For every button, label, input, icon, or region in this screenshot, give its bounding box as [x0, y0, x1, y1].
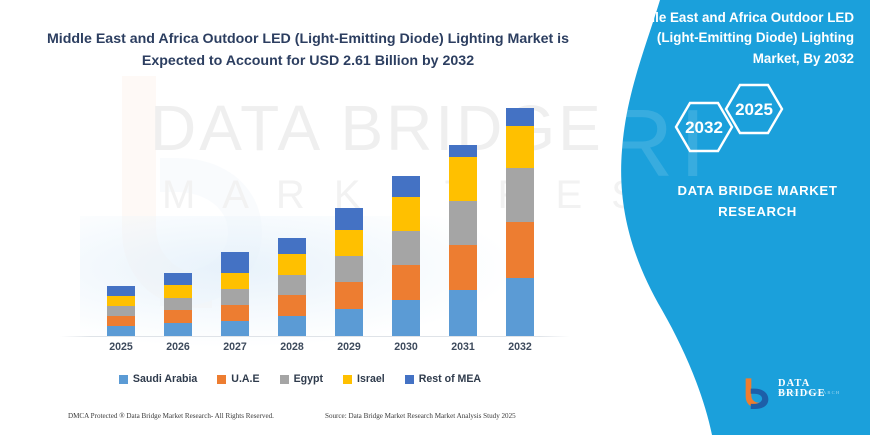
x-axis-label-2026: 2026 [150, 341, 206, 353]
legend-label-u-a-e: U.A.E [231, 373, 259, 385]
bar-segment-saudi-arabia[interactable] [506, 278, 534, 336]
x-axis-label-2032: 2032 [492, 341, 548, 353]
bar-segment-u-a-e[interactable] [392, 265, 420, 300]
bar-segment-israel[interactable] [392, 197, 420, 231]
brand-logo-subtitle: MARKET RESEARCH [778, 391, 840, 396]
hexagon-2025-label: 2025 [735, 100, 773, 119]
hexagon-2032-label: 2032 [685, 118, 723, 137]
footer-copyright: DMCA Protected ® Data Bridge Market Rese… [68, 412, 274, 420]
bar-segment-u-a-e[interactable] [278, 295, 306, 316]
bar-segment-saudi-arabia[interactable] [392, 300, 420, 336]
bar-2032[interactable] [506, 108, 534, 336]
legend-swatch-u-a-e [217, 375, 226, 384]
bar-segment-egypt[interactable] [335, 256, 363, 282]
bar-segment-egypt[interactable] [278, 275, 306, 295]
bar-segment-rest-of-mea[interactable] [506, 108, 534, 126]
bar-segment-egypt[interactable] [221, 289, 249, 305]
legend-swatch-saudi-arabia [119, 375, 128, 384]
bar-segment-egypt[interactable] [449, 201, 477, 245]
bar-segment-rest-of-mea[interactable] [392, 176, 420, 197]
chart-plot-area [72, 92, 552, 336]
bar-segment-saudi-arabia[interactable] [335, 309, 363, 336]
bar-segment-u-a-e[interactable] [107, 316, 135, 326]
bar-2031[interactable] [449, 145, 477, 336]
bar-segment-u-a-e[interactable] [335, 282, 363, 309]
legend-item-israel[interactable]: Israel [343, 373, 385, 385]
legend-item-egypt[interactable]: Egypt [280, 373, 323, 385]
bar-segment-u-a-e[interactable] [449, 245, 477, 290]
bar-segment-egypt[interactable] [506, 168, 534, 222]
x-axis-label-2025: 2025 [93, 341, 149, 353]
bar-segment-rest-of-mea[interactable] [278, 238, 306, 254]
bar-segment-saudi-arabia[interactable] [278, 316, 306, 336]
bar-segment-rest-of-mea[interactable] [107, 286, 135, 296]
legend-swatch-egypt [280, 375, 289, 384]
legend-item-rest-of-mea[interactable]: Rest of MEA [405, 373, 481, 385]
bar-segment-saudi-arabia[interactable] [449, 290, 477, 336]
legend-item-u-a-e[interactable]: U.A.E [217, 373, 259, 385]
footer: DMCA Protected ® Data Bridge Market Rese… [0, 412, 620, 432]
legend-label-rest-of-mea: Rest of MEA [419, 373, 481, 385]
bar-segment-rest-of-mea[interactable] [335, 208, 363, 230]
right-panel-title: Middle East and Africa Outdoor LED (Ligh… [618, 8, 854, 69]
legend-swatch-rest-of-mea [405, 375, 414, 384]
bar-segment-u-a-e[interactable] [164, 310, 192, 323]
bar-segment-egypt[interactable] [164, 298, 192, 310]
legend-label-egypt: Egypt [294, 373, 323, 385]
infographic-root: DATA BRIDGE M A R K E T R E S E A R C H … [0, 0, 870, 435]
data-bridge-b-icon [740, 375, 774, 409]
x-axis-label-2031: 2031 [435, 341, 491, 353]
bar-segment-israel[interactable] [107, 296, 135, 306]
bar-segment-israel[interactable] [335, 230, 363, 256]
bar-segment-saudi-arabia[interactable] [164, 323, 192, 336]
bar-segment-saudi-arabia[interactable] [107, 326, 135, 336]
legend-label-saudi-arabia: Saudi Arabia [133, 373, 197, 385]
bar-2025[interactable] [107, 286, 135, 336]
x-axis-label-2030: 2030 [378, 341, 434, 353]
bar-2026[interactable] [164, 273, 192, 336]
x-axis-label-2028: 2028 [264, 341, 320, 353]
bar-segment-rest-of-mea[interactable] [449, 145, 477, 157]
hexagon-2032-icon: 2032 [676, 103, 732, 151]
bar-segment-israel[interactable] [221, 273, 249, 289]
bar-segment-israel[interactable] [506, 126, 534, 168]
footer-source: Source: Data Bridge Market Research Mark… [325, 412, 516, 420]
bar-2029[interactable] [335, 208, 363, 336]
legend-label-israel: Israel [357, 373, 385, 385]
x-axis-label-2029: 2029 [321, 341, 377, 353]
bar-2027[interactable] [221, 252, 249, 336]
chart-x-axis-labels: 20252026202720282029203020312032 [0, 341, 600, 361]
hexagon-badges: 2032 2025 [660, 82, 830, 172]
brand-logo: DATA BRIDGE MARKET RESEARCH [740, 375, 852, 411]
chart: 20252026202720282029203020312032 Saudi A… [0, 0, 600, 400]
bar-2030[interactable] [392, 176, 420, 336]
bar-segment-egypt[interactable] [392, 231, 420, 265]
bar-segment-u-a-e[interactable] [221, 305, 249, 321]
x-axis-label-2027: 2027 [207, 341, 263, 353]
bar-segment-u-a-e[interactable] [506, 222, 534, 278]
chart-legend: Saudi ArabiaU.A.EEgyptIsraelRest of MEA [0, 369, 600, 389]
chart-axis-line [60, 336, 570, 337]
hexagon-2025-icon: 2025 [726, 85, 782, 133]
legend-item-saudi-arabia[interactable]: Saudi Arabia [119, 373, 197, 385]
legend-swatch-israel [343, 375, 352, 384]
bar-segment-rest-of-mea[interactable] [221, 252, 249, 273]
bar-segment-israel[interactable] [449, 157, 477, 201]
bar-segment-israel[interactable] [278, 254, 306, 275]
bar-segment-saudi-arabia[interactable] [221, 321, 249, 336]
bar-segment-israel[interactable] [164, 285, 192, 298]
bar-2028[interactable] [278, 238, 306, 336]
bar-segment-egypt[interactable] [107, 306, 135, 316]
bar-segment-rest-of-mea[interactable] [164, 273, 192, 285]
right-panel-brand: DATA BRIDGE MARKET RESEARCH [655, 180, 860, 222]
